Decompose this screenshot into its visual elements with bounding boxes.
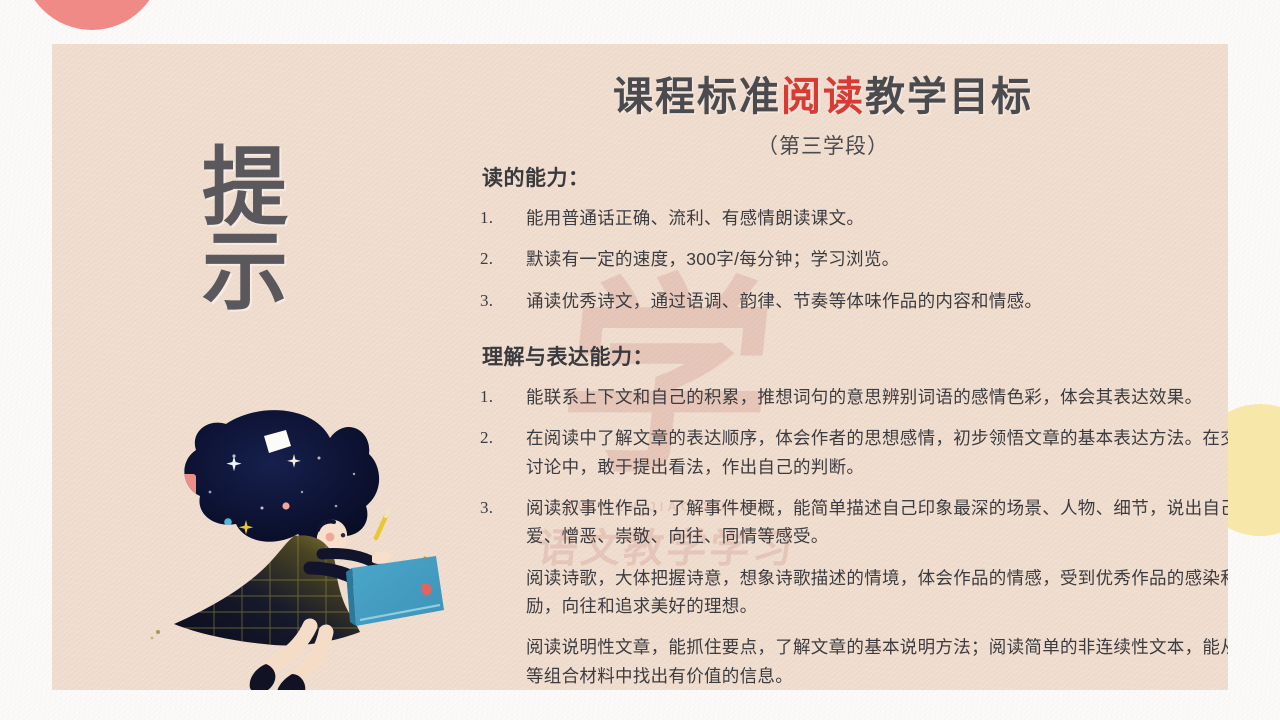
list-item-number: 2. bbox=[480, 245, 514, 273]
list-item: 1. 能联系上下文和自己的积累，推想词句的意思辨别词语的感情色彩，体会其表达效果… bbox=[480, 383, 1228, 411]
list-item: 2. 默读有一定的速度，300字/每分钟；学习浏览。 bbox=[480, 245, 1228, 273]
list-item: 3. 阅读叙事性作品，了解事件梗概，能简单描述自己印象最深的场景、人物、细节，说… bbox=[480, 494, 1228, 551]
section-heading-comprehension: 理解与表达能力： bbox=[482, 341, 1228, 371]
page-title-vertical: 提 示 bbox=[202, 146, 288, 315]
content-card: 学 YU WEN JIAO XUE XI 语文教学学习 提 示 bbox=[52, 44, 1228, 690]
slide-canvas: 学 YU WEN JIAO XUE XI 语文教学学习 提 示 bbox=[0, 0, 1280, 720]
list-item-text: 默读有一定的速度，300字/每分钟；学习浏览。 bbox=[526, 249, 899, 269]
page-title-suffix: 教学目标 bbox=[865, 75, 1033, 119]
pencil bbox=[376, 509, 389, 538]
list-item: 3. 诵读优秀诗文，通过语调、韵律、节奏等体味作品的内容和情感。 bbox=[480, 287, 1228, 315]
galaxy-hair bbox=[168, 410, 379, 544]
list-item-text: 在阅读中了解文章的表达顺序，体会作者的思想感情，初步领悟文章的基本表达方法。在交… bbox=[526, 428, 1228, 476]
page-title-char-1: 提 bbox=[202, 146, 288, 230]
continuation-paragraph: 阅读说明性文章，能抓住要点，了解文章的基本说明方法；阅读简单的非连续性文本，能从… bbox=[526, 633, 1228, 690]
continuation-paragraph: 阅读诗歌，大体把握诗意，想象诗歌描述的情境，体会作品的情感，受到优秀作品的感染和… bbox=[526, 564, 1228, 621]
list-item: 1. 能用普通话正确、流利、有感情朗读课文。 bbox=[480, 204, 1228, 232]
list-item-number: 2. bbox=[480, 424, 514, 452]
decorative-pink-circle bbox=[22, 0, 162, 30]
list-item-text: 诵读优秀诗文，通过语调、韵律、节奏等体味作品的内容和情感。 bbox=[526, 291, 1042, 311]
list-item-number: 3. bbox=[480, 494, 514, 522]
list-item-number: 1. bbox=[480, 204, 514, 232]
objectives-body: 读的能力： 1. 能用普通话正确、流利、有感情朗读课文。 2. 默读有一定的速度… bbox=[480, 162, 1228, 690]
page-title: 课程标准阅读教学目标 bbox=[418, 64, 1228, 122]
list-item-text: 能用普通话正确、流利、有感情朗读课文。 bbox=[526, 208, 864, 228]
illustration-girl-reading bbox=[114, 396, 444, 690]
list-item: 2. 在阅读中了解文章的表达顺序，体会作者的思想感情，初步领悟文章的基本表达方法… bbox=[480, 424, 1228, 481]
page-title-char-2: 示 bbox=[202, 230, 288, 314]
content-column: 课程标准阅读教学目标 （第三学段） 读的能力： 1. 能用普通话正确、流利、有感… bbox=[418, 44, 1228, 690]
objectives-list-comprehension: 1. 能联系上下文和自己的积累，推想词句的意思辨别词语的感情色彩，体会其表达效果… bbox=[480, 383, 1228, 551]
page-title-prefix: 课程标准 bbox=[613, 75, 781, 119]
list-item-number: 3. bbox=[480, 287, 514, 315]
section-heading-reading: 读的能力： bbox=[482, 162, 1228, 192]
list-item-text: 阅读叙事性作品，了解事件梗概，能简单描述自己印象最深的场景、人物、细节，说出自己… bbox=[526, 498, 1228, 546]
page-subtitle: （第三学段） bbox=[418, 130, 1228, 160]
page-title-highlight: 阅读 bbox=[781, 75, 865, 119]
list-item-text: 能联系上下文和自己的积累，推想词句的意思辨别词语的感情色彩，体会其表达效果。 bbox=[526, 387, 1202, 407]
list-item-number: 1. bbox=[480, 383, 514, 411]
objectives-list-reading: 1. 能用普通话正确、流利、有感情朗读课文。 2. 默读有一定的速度，300字/… bbox=[480, 204, 1228, 315]
left-column: 提 示 bbox=[52, 44, 412, 690]
title-block: 课程标准阅读教学目标 （第三学段） bbox=[418, 64, 1228, 160]
